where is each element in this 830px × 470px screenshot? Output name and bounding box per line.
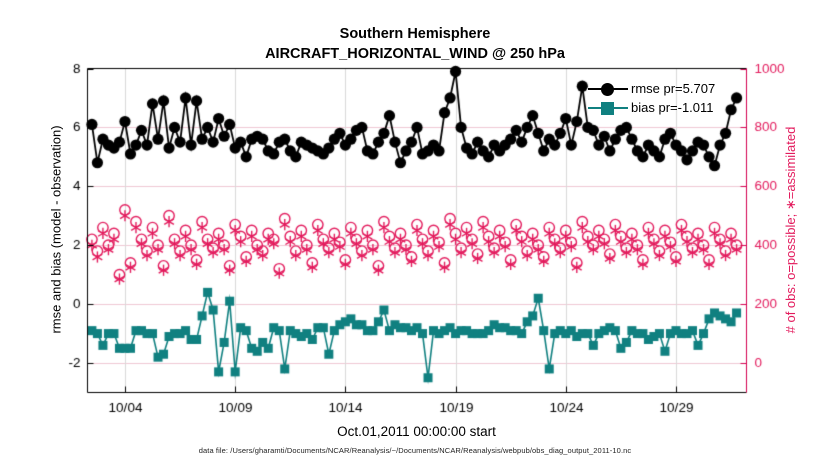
legend-item-rmse[interactable]: rmse pr=5.707: [588, 82, 715, 96]
figure-container: Southern Hemisphere AIRCRAFT_HORIZONTAL_…: [0, 0, 830, 470]
legend-item-bias[interactable]: bias pr=-1.011: [588, 101, 714, 115]
legend-swatch-bias: [588, 101, 628, 115]
legend-label-bias: bias pr=-1.011: [631, 101, 714, 115]
circle-marker-icon: [601, 83, 614, 96]
legend-swatch-rmse: [588, 82, 628, 96]
legend-label-rmse: rmse pr=5.707: [631, 82, 715, 96]
square-marker-icon: [601, 102, 614, 115]
chart-plot-area[interactable]: [0, 0, 830, 470]
